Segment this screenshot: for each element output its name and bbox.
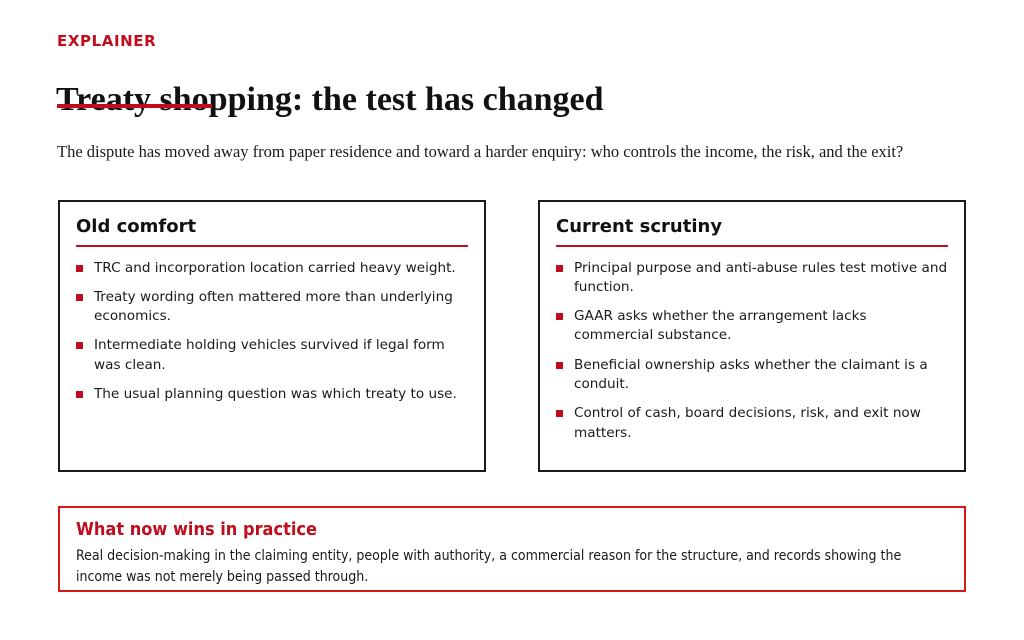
list-item: TRC and incorporation location carried h… <box>76 259 468 278</box>
square-bullet-icon <box>76 342 83 349</box>
list-item-text: Control of cash, board decisions, risk, … <box>574 405 921 440</box>
list-item: The usual planning question was which tr… <box>76 385 468 404</box>
standfirst-text: The dispute has moved away from paper re… <box>57 139 937 165</box>
callout-title: What now wins in practice <box>76 519 948 541</box>
list-item: Principal purpose and anti-abuse rules t… <box>556 259 948 298</box>
card-old-comfort: Old comfort TRC and incorporation locati… <box>58 200 486 472</box>
list-item-text: TRC and incorporation location carried h… <box>94 260 456 276</box>
list-item-text: GAAR asks whether the arrangement lacks … <box>574 308 867 343</box>
list-item: Control of cash, board decisions, risk, … <box>556 404 948 443</box>
bullet-list: TRC and incorporation location carried h… <box>76 259 468 405</box>
card-content: Current scrutiny Principal purpose and a… <box>540 202 964 443</box>
card-title: Current scrutiny <box>556 216 948 238</box>
list-item-text: Principal purpose and anti-abuse rules t… <box>574 260 947 295</box>
square-bullet-icon <box>76 294 83 301</box>
title-accent-rule <box>57 104 212 108</box>
square-bullet-icon <box>556 265 563 272</box>
list-item-text: Beneficial ownership asks whether the cl… <box>574 357 928 392</box>
card-title-rule <box>76 245 468 247</box>
page-title: Treaty shopping: the test has changed <box>56 81 604 118</box>
list-item: Intermediate holding vehicles survived i… <box>76 336 468 375</box>
callout-body-text: Real decision-making in the claiming ent… <box>76 546 948 588</box>
list-item: Beneficial ownership asks whether the cl… <box>556 356 948 395</box>
square-bullet-icon <box>556 362 563 369</box>
callout-box: What now wins in practice Real decision-… <box>58 506 966 592</box>
list-item-text: Intermediate holding vehicles survived i… <box>94 337 445 372</box>
card-title-rule <box>556 245 948 247</box>
card-current-scrutiny: Current scrutiny Principal purpose and a… <box>538 200 966 472</box>
square-bullet-icon <box>76 391 83 398</box>
list-item-text: Treaty wording often mattered more than … <box>94 289 453 324</box>
list-item: Treaty wording often mattered more than … <box>76 288 468 327</box>
square-bullet-icon <box>76 265 83 272</box>
square-bullet-icon <box>556 410 563 417</box>
kicker-label: EXPLAINER <box>57 34 156 49</box>
card-title: Old comfort <box>76 216 468 238</box>
card-content: Old comfort TRC and incorporation locati… <box>60 202 484 404</box>
explainer-page: EXPLAINER Treaty shopping: the test has … <box>0 0 1024 640</box>
bullet-list: Principal purpose and anti-abuse rules t… <box>556 259 948 443</box>
list-item-text: The usual planning question was which tr… <box>94 386 457 402</box>
square-bullet-icon <box>556 313 563 320</box>
list-item: GAAR asks whether the arrangement lacks … <box>556 307 948 346</box>
